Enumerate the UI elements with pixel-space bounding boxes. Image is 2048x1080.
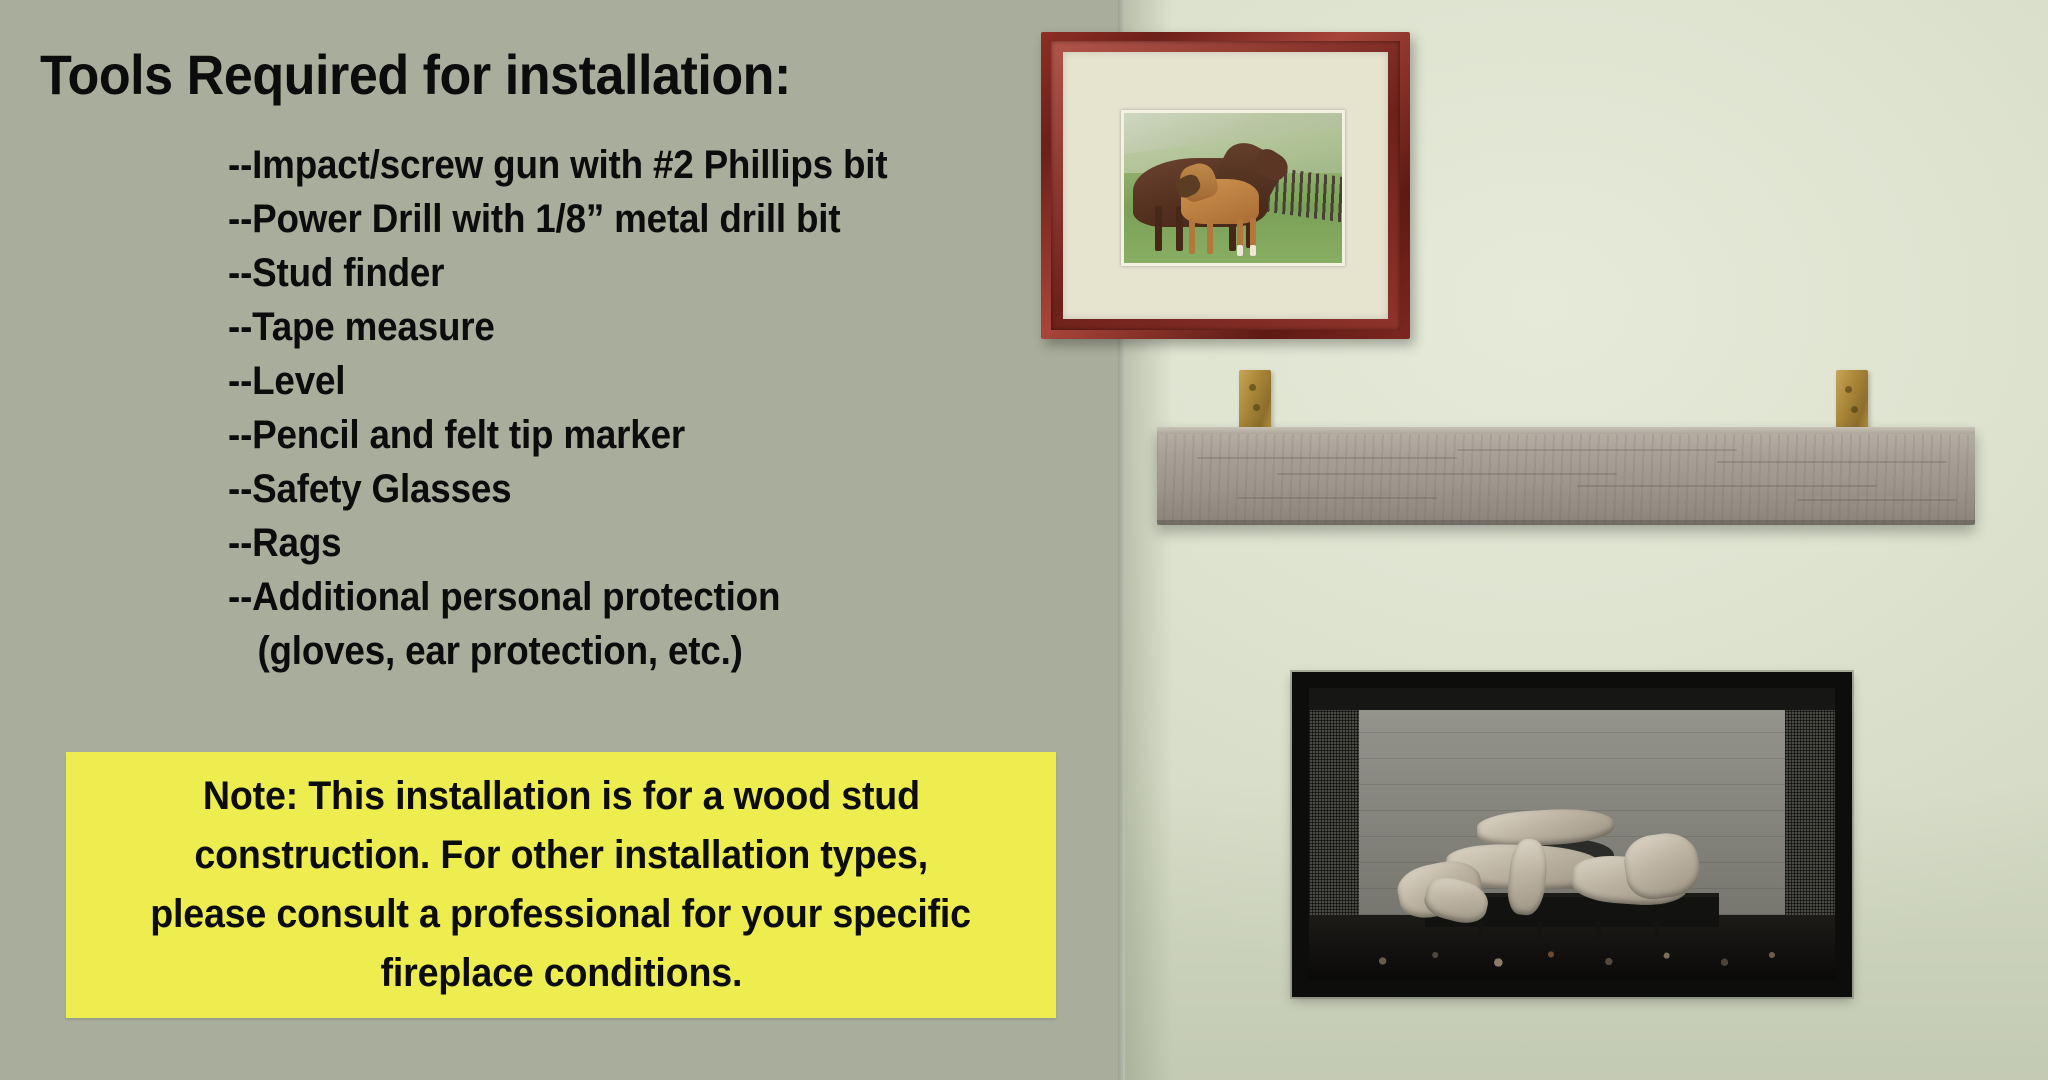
firebox-interior (1309, 688, 1835, 979)
ember-bed (1309, 943, 1835, 973)
wood-knot (1253, 404, 1260, 411)
fireplace-firebox (1292, 672, 1852, 997)
grate-bar (1654, 921, 1659, 943)
photo-mare-leg (1155, 206, 1162, 251)
page-title: Tools Required for installation: (40, 42, 791, 107)
list-item: --Stud finder (228, 246, 1019, 300)
grain (1277, 473, 1617, 475)
grain (1797, 499, 1957, 501)
note-line: construction. For other installation typ… (194, 826, 928, 885)
grain (1717, 461, 1947, 463)
picture-mat (1063, 52, 1388, 319)
tools-required-list: --Impact/screw gun with #2 Phillips bit … (228, 138, 1088, 678)
note-callout-box: Note: This installation is for a wood st… (66, 752, 1056, 1018)
grate-bar (1596, 921, 1601, 943)
list-item: --Additional personal protection (228, 570, 1019, 624)
mantel-bottom-edge (1157, 520, 1975, 525)
mantel-shelf (1157, 427, 1975, 525)
grain (1237, 497, 1437, 499)
mantel-wood-grain (1157, 427, 1975, 525)
list-item: --Level (228, 354, 1019, 408)
grain (1577, 485, 1877, 487)
wood-knot (1845, 386, 1852, 393)
corbel-left (1239, 370, 1271, 432)
note-line: fireplace conditions. (380, 944, 742, 1003)
framed-picture (1041, 32, 1410, 339)
grate-bar (1537, 921, 1542, 943)
grate-bar (1478, 921, 1483, 943)
wood-knot (1249, 384, 1256, 391)
grain (1457, 449, 1737, 451)
corbel-right (1836, 370, 1868, 432)
list-item: --Safety Glasses (228, 462, 1019, 516)
list-item-continuation: (gloves, ear protection, etc.) (228, 624, 1019, 678)
instructions-panel: Tools Required for installation: --Impac… (0, 0, 1125, 1080)
horse-photo (1121, 110, 1345, 266)
wood-knot (1851, 406, 1858, 413)
photo-foal-sock (1237, 245, 1243, 256)
grain (1197, 457, 1457, 459)
note-line: Note: This installation is for a wood st… (203, 767, 920, 826)
slide-root: Tools Required for installation: --Impac… (0, 0, 2048, 1080)
photo-foal-leg (1189, 218, 1195, 254)
photo-foal-leg (1207, 218, 1213, 254)
photo-foal-sock (1250, 245, 1256, 256)
list-item: --Pencil and felt tip marker (228, 408, 1019, 462)
note-line: please consult a professional for your s… (151, 885, 972, 944)
list-item: --Tape measure (228, 300, 1019, 354)
list-item: --Impact/screw gun with #2 Phillips bit (228, 138, 1019, 192)
firebox-damper (1309, 688, 1835, 710)
list-item: --Power Drill with 1/8” metal drill bit (228, 192, 1019, 246)
list-item: --Rags (228, 516, 1019, 570)
